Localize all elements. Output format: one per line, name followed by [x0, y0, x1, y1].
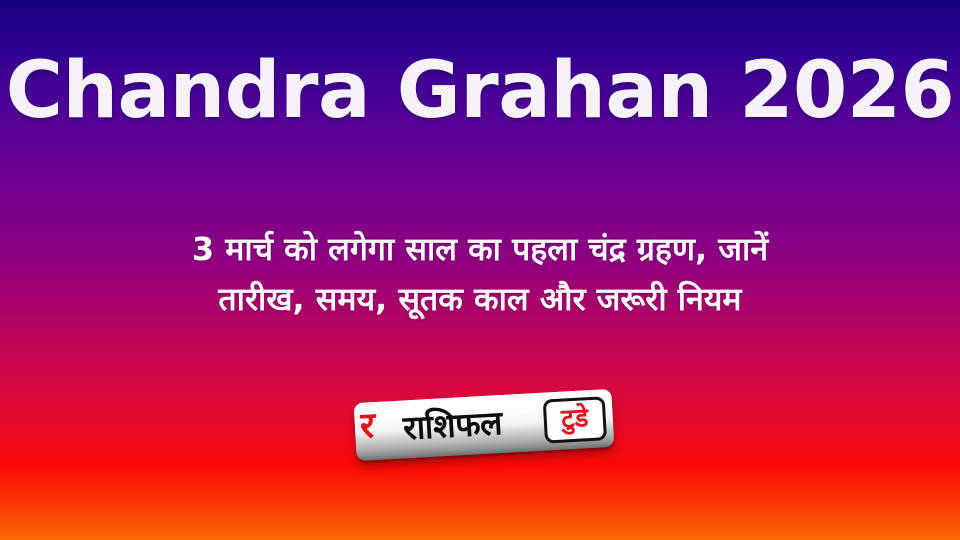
subtitle-container: 3 मार्च को लगेगा साल का पहला चंद्र ग्रहण… [0, 224, 960, 324]
logo-accent-glyph-icon: र [359, 408, 375, 445]
logo-suffix-box: टुडे [543, 396, 607, 443]
title-container: Chandra Grahan 2026 [0, 52, 960, 132]
poster-canvas: Chandra Grahan 2026 3 मार्च को लगेगा साल… [0, 0, 960, 540]
logo-brand-name: राशिफल [402, 406, 503, 444]
page-title: Chandra Grahan 2026 [6, 52, 955, 132]
brand-logo[interactable]: र राशिफल टुडे [355, 392, 617, 468]
subtitle-line-1: 3 मार्च को लगेगा साल का पहला चंद्र ग्रहण… [28, 224, 932, 274]
logo-brand-area: र राशिफल [354, 393, 546, 461]
subtitle-line-2: तारीख, समय, सूतक काल और जरूरी नियम [28, 274, 932, 324]
logo-chrome-plate: र राशिफल टुडे [354, 389, 615, 461]
poster-subtitle: 3 मार्च को लगेगा साल का पहला चंद्र ग्रहण… [28, 224, 932, 324]
logo-suffix-name: टुडे [561, 405, 589, 432]
